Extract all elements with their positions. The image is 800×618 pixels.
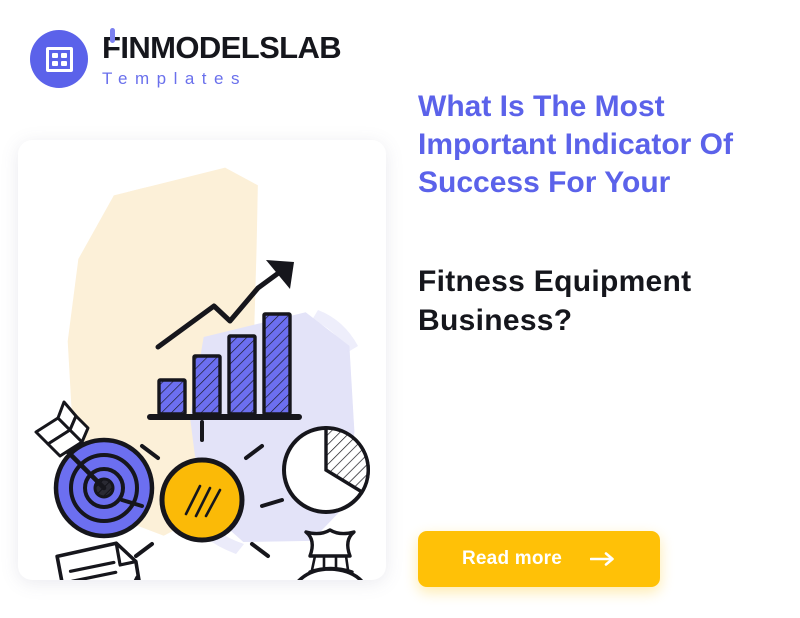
- brand-tagline: Templates: [102, 70, 341, 87]
- brand-logo[interactable]: FINMODELSLAB Templates: [30, 30, 341, 88]
- grid-cell: [61, 61, 67, 66]
- read-more-button[interactable]: Read more: [418, 531, 660, 587]
- brand-wordmark: FINMODELSLAB: [102, 32, 341, 63]
- grid-cell: [52, 53, 58, 58]
- document-checklist: [56, 541, 149, 580]
- grid-squares-icon: [30, 30, 88, 88]
- grid-cell: [52, 61, 58, 66]
- grid-cell: [61, 53, 67, 58]
- page-subtitle: Fitness Equipment Business?: [418, 262, 778, 340]
- page-title: What Is The Most Important Indicator Of …: [418, 88, 768, 202]
- read-more-label: Read more: [462, 548, 562, 570]
- business-success-metrics-illustration: $: [18, 140, 386, 580]
- wordmark-accent-mark: [110, 28, 115, 43]
- brand-text: FINMODELSLAB Templates: [102, 32, 341, 87]
- pie-chart: [284, 428, 368, 512]
- article-promo-banner: FINMODELSLAB Templates: [0, 0, 800, 618]
- arrow-right-icon: [590, 552, 616, 566]
- illustration-card: $: [18, 140, 386, 580]
- grid-squares-glyph: [46, 47, 73, 72]
